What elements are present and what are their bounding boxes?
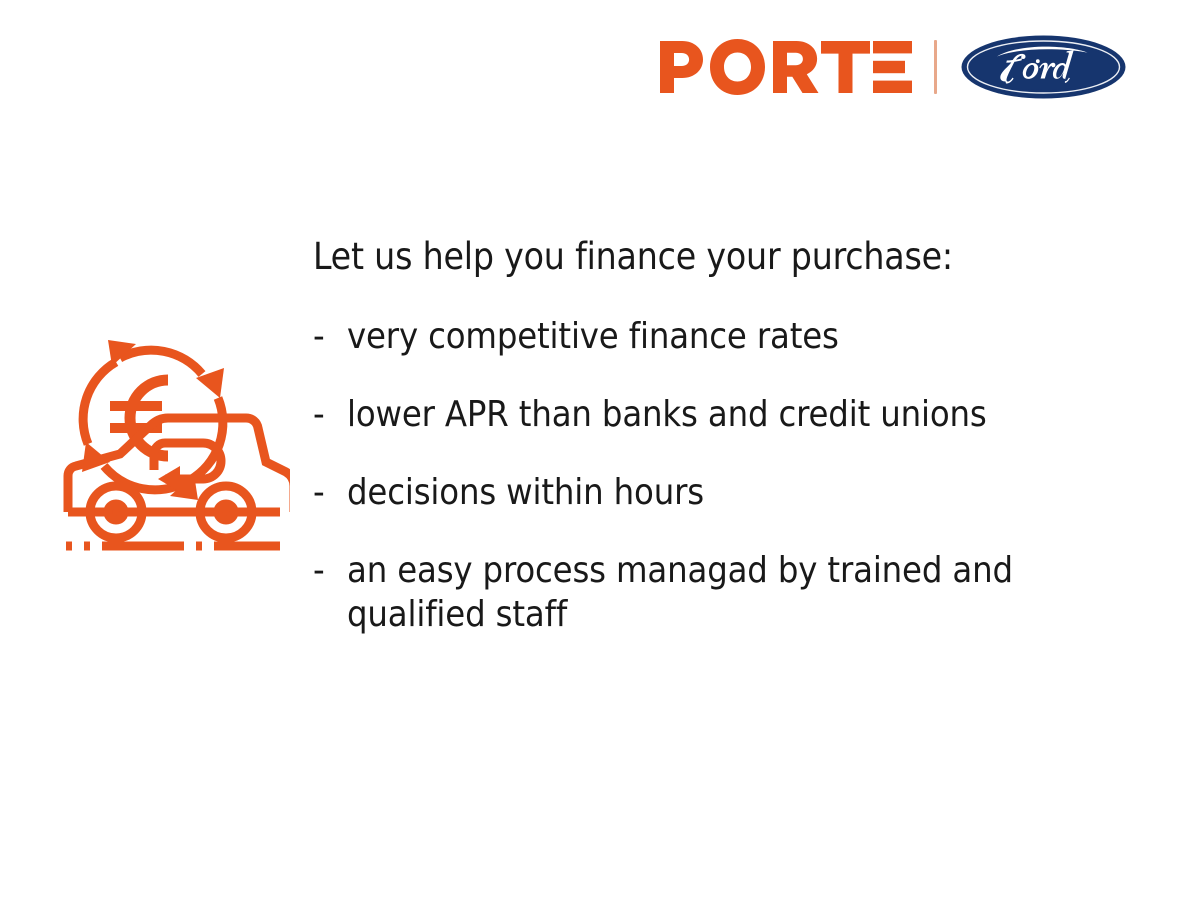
car-finance-euro-icon [58,322,290,562]
bullet-marker: - [313,393,347,437]
benefits-list: - very competitive finance rates - lower… [313,315,1113,637]
bullet-marker: - [313,315,347,359]
list-item: - decisions within hours [313,471,1113,515]
porter-wordmark [660,34,912,100]
ford-oval-logo [961,35,1126,99]
list-item-label: lower APR than banks and credit unions [347,393,987,437]
list-item-label: decisions within hours [347,471,704,515]
list-item: - lower APR than banks and credit unions [313,393,1113,437]
list-item: - very competitive finance rates [313,315,1113,359]
copy-block: Let us help you finance your purchase: -… [313,236,1113,637]
slide-root: Let us help you finance your purchase: -… [0,0,1200,900]
list-item-label: an easy process managad by trained and q… [347,549,1077,637]
headline: Let us help you finance your purchase: [313,236,1113,277]
list-item: - an easy process managad by trained and… [313,549,1113,637]
list-item-label: very competitive finance rates [347,315,839,359]
brand-divider [934,40,937,94]
brand-lockup [660,34,1126,100]
bullet-marker: - [313,471,347,515]
bullet-marker: - [313,549,347,593]
